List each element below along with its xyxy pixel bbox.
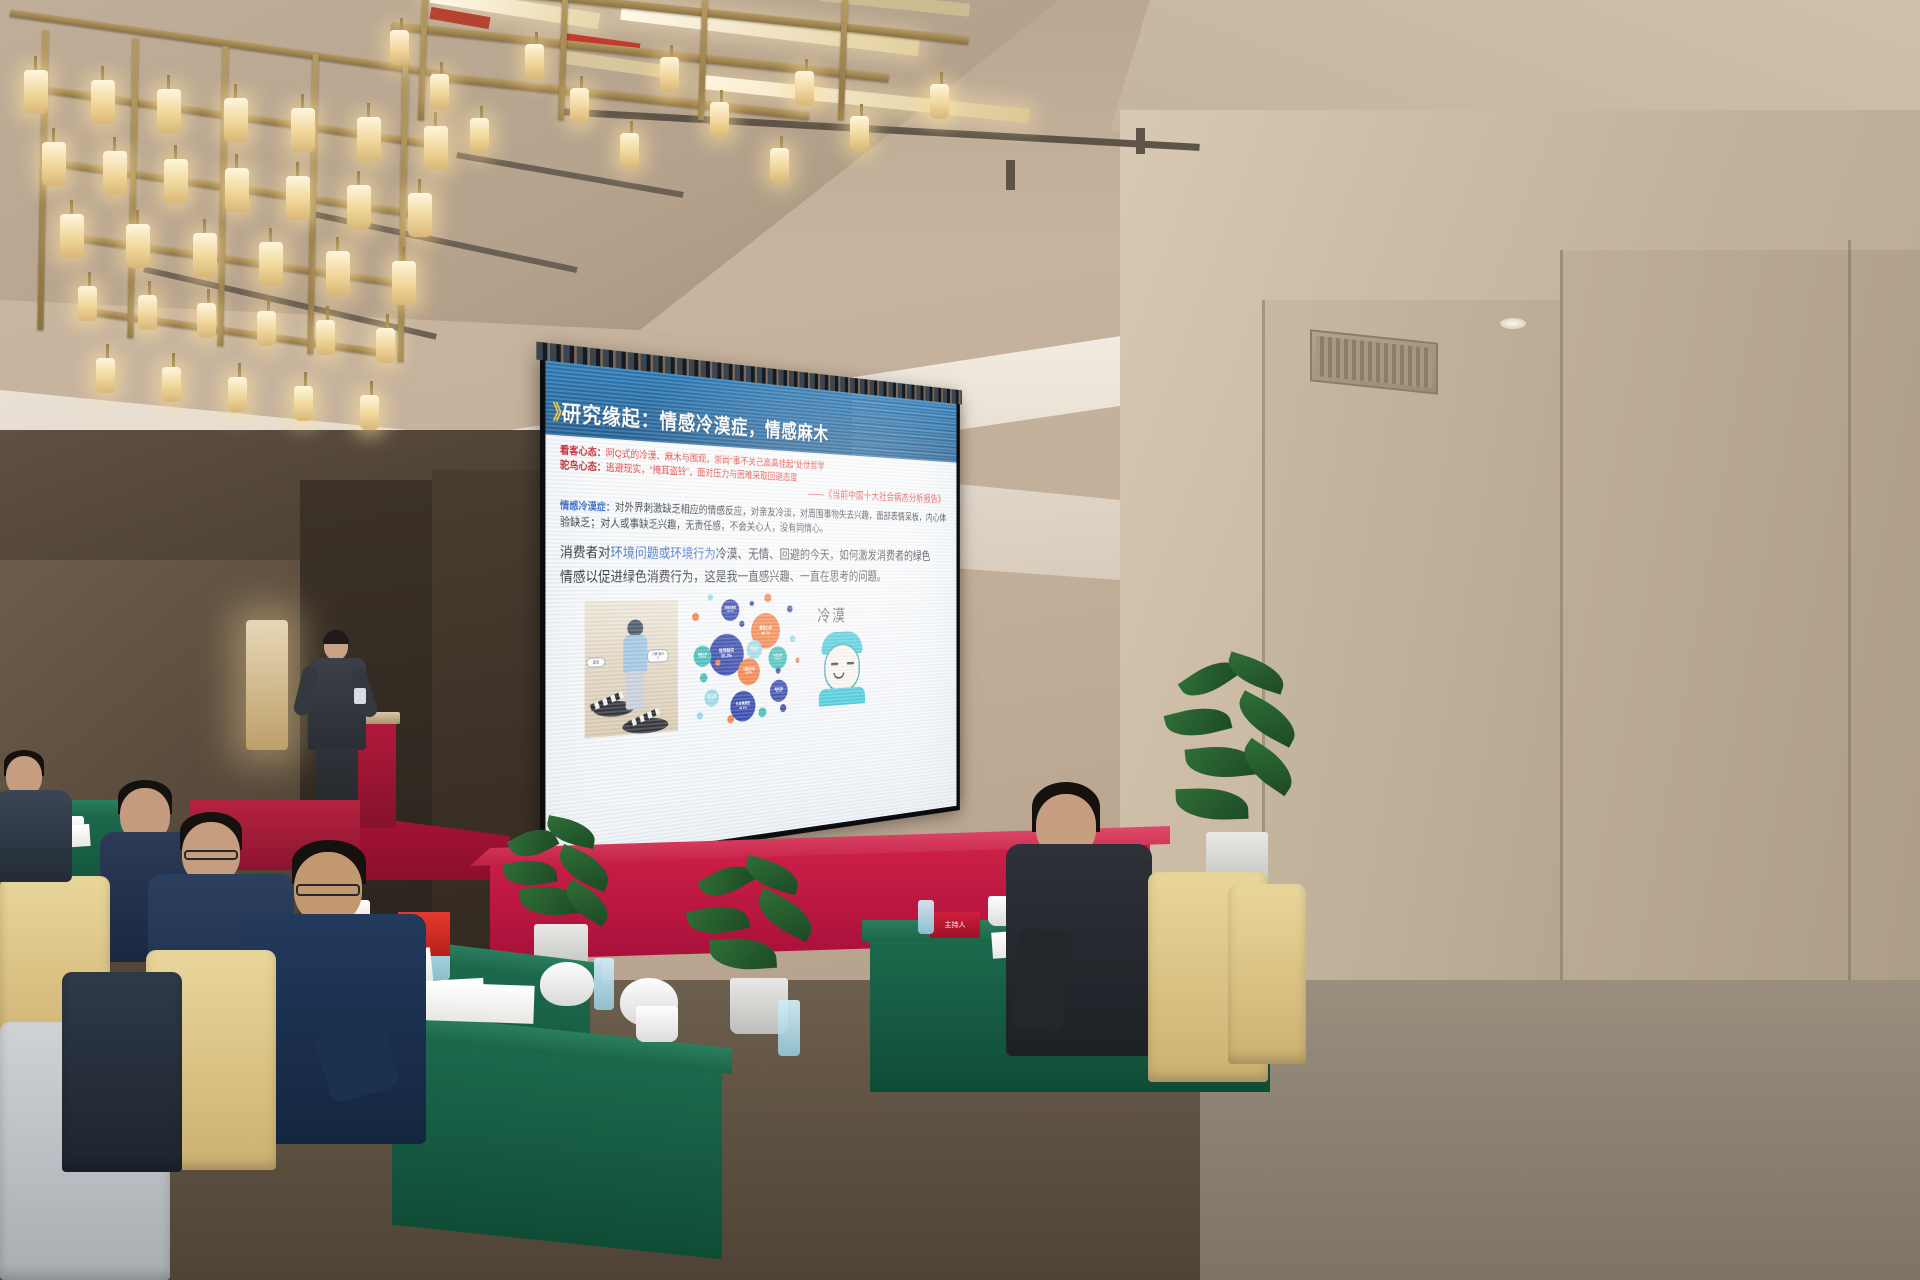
chandelier-drop-rod <box>301 94 304 108</box>
chandelier-drop-rod <box>630 121 633 133</box>
chandelier-drop-rod <box>296 162 299 176</box>
water-bottle-4 <box>778 1000 800 1056</box>
speech-bubble-2: 习惯 就行了 <box>647 648 668 663</box>
bubble-10: 面子心理24.1% <box>704 688 719 706</box>
chandelier-lamp-icon <box>376 328 395 363</box>
chandelier-drop-rod <box>860 104 863 116</box>
chandelier-lamp-icon <box>224 98 248 142</box>
chandelier-drop-rod <box>267 297 270 311</box>
chandelier-drop-rod <box>52 128 55 142</box>
chandelier-lamp-icon <box>257 311 276 346</box>
chandelier-drop-rod <box>70 200 73 214</box>
chandelier-drop-rod <box>480 106 483 118</box>
chandelier-lamp-icon <box>126 224 150 268</box>
chandelier-drop-rod <box>234 84 237 98</box>
chandelier-drop-rod <box>805 59 808 71</box>
chandelier-drop-rod <box>400 18 403 30</box>
chandelier-lamp-icon <box>326 251 350 295</box>
chair-right-2 <box>1228 884 1306 1064</box>
slide-figure-row: 套我 习惯 就行了 信仰缺失55.3%看客心态48.7%社会焦虑症44.5%习惯… <box>560 593 948 746</box>
chandelier-lamp-icon <box>96 358 115 393</box>
chandelier-lamp-icon <box>850 116 869 151</box>
chandelier-drop-rod <box>720 90 723 102</box>
water-bottle <box>918 900 934 934</box>
chandelier-lamp-icon <box>620 133 639 168</box>
chandelier-drop-rod <box>670 45 673 57</box>
chandelier-lamp-icon <box>164 159 188 203</box>
chandelier-lamp-icon <box>470 118 489 153</box>
indifferent-face-illustration <box>817 631 866 705</box>
bubble-9: 自虐心态28.4% <box>747 639 762 658</box>
chandelier-drop-rod <box>34 56 37 70</box>
chandelier-lamp-icon <box>930 84 949 119</box>
chandelier-lamp-icon <box>795 71 814 106</box>
chandelier-drop-rod <box>148 281 151 295</box>
social-illness-bubble-chart: 信仰缺失55.3%看客心态48.7%社会焦虑症44.5%习惯性怀疑40.6%网络… <box>692 593 802 733</box>
bubble-decorative-5 <box>790 635 796 642</box>
chandelier-lamp-icon <box>60 214 84 258</box>
bubble-decorative-7 <box>758 707 766 717</box>
chandelier-lamp-icon <box>24 70 48 114</box>
chandelier-bar <box>391 22 889 82</box>
chandelier-drop-rod <box>88 272 91 286</box>
chandelier-upper <box>330 0 1050 160</box>
chandelier-drop-rod <box>357 171 360 185</box>
chandelier-drop-rod <box>238 363 241 377</box>
chandelier-bar <box>838 0 848 120</box>
chandelier-drop-rod <box>304 372 307 386</box>
audience-person-far-left <box>0 750 70 870</box>
rail-hanger-1 <box>1006 160 1015 190</box>
chandelier-drop-rod <box>174 145 177 159</box>
eyeglasses-icon <box>296 884 360 896</box>
downlight-icon <box>1500 318 1526 329</box>
wall-seam-3 <box>1848 240 1851 1020</box>
bubble-decorative-14 <box>708 594 713 600</box>
conclusion-line-2: 情感以促进绿色消费行为，这是我一直感兴趣、一直在思考的问题。 <box>560 566 948 591</box>
chandelier-drop-rod <box>780 136 783 148</box>
chandelier-lamp-icon <box>193 233 217 277</box>
chandelier-lamp-icon <box>347 185 371 229</box>
chandelier-lamp-icon <box>157 89 181 133</box>
chandelier-drop-rod <box>336 237 339 251</box>
ostrich-head-in-sand-illustration: 套我 习惯 就行了 <box>585 600 678 738</box>
chandelier-bar <box>418 0 428 120</box>
chandelier-lamp-icon <box>286 176 310 220</box>
chandelier-lamp-icon <box>228 377 247 412</box>
water-bottle-2 <box>594 958 614 1010</box>
chandelier-lamp-icon <box>770 148 789 183</box>
chandelier-drop-rod <box>172 353 175 367</box>
tea-cup-2 <box>636 1006 678 1042</box>
bubble-5: 网络依赖症36.7% <box>721 599 739 621</box>
bubble-decorative-9 <box>697 711 703 719</box>
bubble-decorative-13 <box>795 657 799 662</box>
chandelier-drop-rod <box>106 344 109 358</box>
chandelier-lamp-icon <box>430 74 449 109</box>
chandelier-lamp-icon <box>103 151 127 195</box>
chandelier-drop-rod <box>167 75 170 89</box>
chandelier-drop-rod <box>326 306 329 320</box>
bubble-8: 暴戾狂躁34.7% <box>770 679 788 702</box>
teapot-1 <box>540 962 594 1006</box>
chandelier-drop-rod <box>535 32 538 44</box>
conference-room-photo: 》 研究缘起：情感冷漠症，情感麻木 看客心态：阿Q式的冷漠、麻木与围观，崇尚“事… <box>0 0 1920 1280</box>
chandelier-bar <box>558 0 568 120</box>
chandelier-bar <box>431 72 810 120</box>
bubble-4: 习惯性怀疑40.6% <box>738 657 760 685</box>
chandelier-drop-rod <box>402 247 405 261</box>
chandelier-drop-rod <box>940 72 943 84</box>
bubble-7: 审丑心理36.5% <box>768 645 786 669</box>
arm <box>1009 927 1073 1032</box>
chandelier-drop-rod <box>386 314 389 328</box>
bubble-decorative-2 <box>787 605 793 612</box>
bubble-3: 社会焦虑症44.5% <box>730 690 755 722</box>
chandelier-drop-rod <box>235 154 238 168</box>
cold-word-label: 冷漠 <box>817 602 846 626</box>
wall-sconce-light-icon <box>246 620 288 750</box>
chandelier-bar <box>81 307 383 356</box>
chandelier-lamp-icon <box>316 320 335 355</box>
chandelier-lamp-icon <box>390 30 409 65</box>
chandelier-lamp-icon <box>162 367 181 402</box>
chandelier-lamp-icon <box>78 286 97 321</box>
chandelier-drop-rod <box>203 219 206 233</box>
chandelier-lamp-icon <box>392 261 416 305</box>
chandelier-lamp-icon <box>225 168 249 212</box>
chandelier-drop-rod <box>136 210 139 224</box>
chandelier-lamp-icon <box>197 303 216 338</box>
chandelier-lamp-icon <box>91 80 115 124</box>
bubble-decorative-3 <box>700 673 708 683</box>
bubble-decorative-10 <box>739 620 744 626</box>
chandelier-drop-rod <box>207 289 210 303</box>
bubble-decorative-11 <box>715 659 720 666</box>
wall-panel-2 <box>1560 250 1920 1010</box>
chair-4 <box>62 972 182 1172</box>
wall-seam-2 <box>1560 250 1563 1010</box>
bubble-6: 炫富心态30.5% <box>694 645 712 667</box>
chandelier-lamp-icon <box>525 44 544 79</box>
chandelier-lamp-icon <box>710 102 729 137</box>
chandelier-drop-rod <box>101 66 104 80</box>
rail-hanger-2 <box>1136 128 1145 154</box>
chandelier-drop-rod <box>440 62 443 74</box>
chandelier-drop-rod <box>418 179 421 193</box>
chandelier-lamp-icon <box>660 57 679 92</box>
chandelier-drop-rod <box>269 228 272 242</box>
bubble-decorative-1 <box>692 612 699 620</box>
conclusion-line-1: 消费者对环境问题或环境行为冷漠、无情、回避的今天，如何激发消费者的绿色 <box>560 541 948 568</box>
chandelier-lamp-icon <box>360 395 379 430</box>
chandelier-lamp-icon <box>259 242 283 286</box>
chandelier-lamp-icon <box>291 108 315 152</box>
bubble-decorative-12 <box>776 667 781 673</box>
speech-bubble-1: 套我 <box>586 657 605 668</box>
bubble-decorative-4 <box>764 593 771 602</box>
paper-document-4 <box>423 982 534 1024</box>
name-card: 主持人 <box>930 912 980 938</box>
bubble-decorative-15 <box>750 600 754 605</box>
audience-person-3 <box>258 840 418 1140</box>
chandelier-lamp-icon <box>42 142 66 186</box>
chandelier-drop-rod <box>580 76 583 88</box>
presentation-slide: 》 研究缘起：情感冷漠症，情感麻木 看客心态：阿Q式的冷漠、麻木与围观，崇尚“事… <box>545 361 956 866</box>
moderator-person <box>1006 782 1156 1082</box>
chandelier-drop-rod <box>113 137 116 151</box>
potted-plant-center-2 <box>686 860 836 1060</box>
chandelier-lamp-icon <box>408 193 432 237</box>
chandelier-bar <box>127 38 138 338</box>
chandelier-lamp-icon <box>570 88 589 123</box>
chandelier-lamp-icon <box>294 386 313 421</box>
eyeglasses-icon <box>184 850 238 860</box>
chandelier-bar <box>351 0 968 44</box>
chandelier-drop-rod <box>370 381 373 395</box>
handheld-device-icon <box>354 688 366 704</box>
definition-block: 情感冷漠症：对外界刺激缺乏相应的情感反应，对亲友冷淡，对周围事物失去兴趣，面部表… <box>560 498 948 539</box>
chandelier-lamp-icon <box>138 295 157 330</box>
bubble-decorative-8 <box>780 703 786 711</box>
bubble-decorative-6 <box>727 715 734 724</box>
